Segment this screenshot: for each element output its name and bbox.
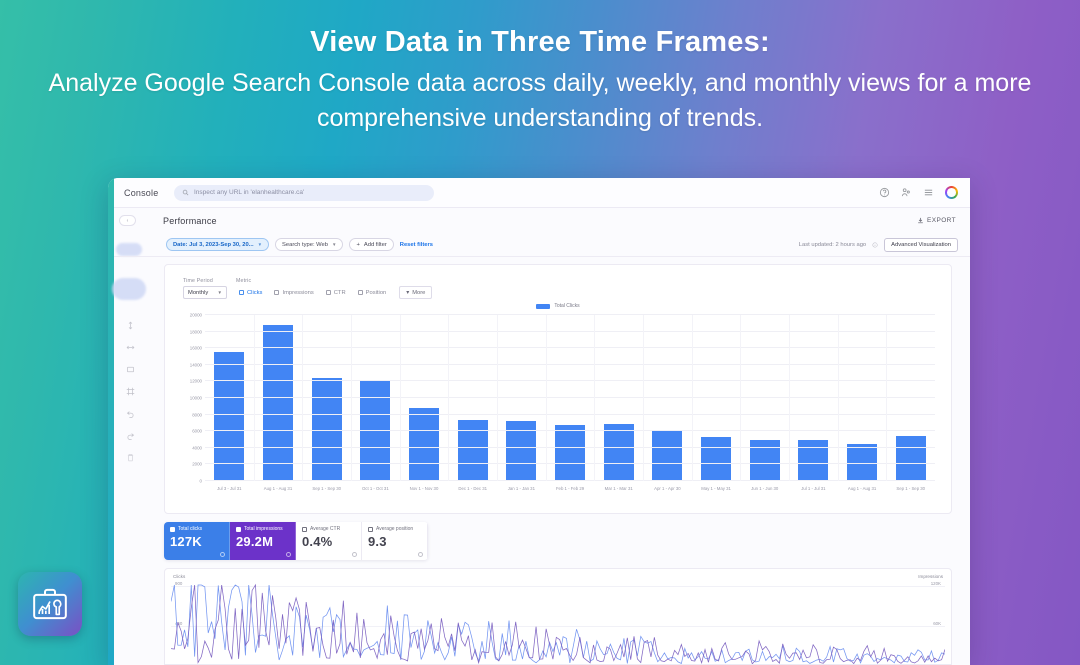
metric-card-value: 127K: [170, 534, 223, 549]
y-gridline: [205, 463, 935, 464]
x-gridline: [789, 315, 790, 481]
bar[interactable]: [896, 436, 926, 481]
console-brand[interactable]: Console: [114, 188, 170, 198]
chevron-down-icon: ▼: [258, 242, 262, 247]
bar-column[interactable]: Jun 1 - Jun 30: [740, 315, 789, 481]
export-button[interactable]: EXPORT: [917, 217, 956, 224]
metric-card[interactable]: Average position9.3: [362, 522, 428, 560]
x-axis-tick: Apr 1 - Apr 30: [654, 486, 681, 491]
bar[interactable]: [409, 408, 439, 481]
headline-subtitle: Analyze Google Search Console data acros…: [0, 66, 1080, 135]
x-axis-tick: Oct 1 - Oct 31: [362, 486, 389, 491]
metric-card-header: Total clicks: [170, 526, 223, 532]
metric-tab-clicks[interactable]: Clicks: [236, 289, 265, 297]
bar[interactable]: [847, 444, 877, 481]
bar-column[interactable]: Apr 1 - Apr 30: [643, 315, 692, 481]
metric-tab-label: CTR: [334, 290, 346, 296]
bar-column[interactable]: May 1 - May 31: [692, 315, 741, 481]
search-icon: [182, 189, 189, 196]
y-gridline: [205, 314, 935, 315]
time-period-select[interactable]: Monthly ▼: [183, 286, 227, 299]
timeseries-lines[interactable]: [171, 583, 945, 665]
checkbox-icon[interactable]: [170, 527, 175, 532]
date-filter-label: Date: Jul 3, 2023-Sep 30, 20...: [173, 242, 254, 248]
metric-summary-cards: Total clicks127KTotal impressions29.2MAv…: [164, 522, 428, 560]
bar-column[interactable]: Oct 1 - Oct 31: [351, 315, 400, 481]
metric-card-title: Total clicks: [178, 526, 202, 532]
chevron-down-icon: ▼: [218, 290, 222, 295]
advanced-visualization-button[interactable]: Advanced Visualization: [884, 238, 958, 252]
time-period-value: Monthly: [188, 290, 208, 296]
checkbox-icon: [274, 290, 279, 295]
filter-bar: Date: Jul 3, 2023-Sep 30, 20... ▼ Search…: [114, 233, 970, 257]
timeseries-line: [171, 585, 945, 663]
info-icon[interactable]: [872, 242, 878, 248]
metric-tabs: Clicks Impressions CTR Position: [236, 286, 432, 299]
x-axis-tick: May 1 - May 31: [701, 486, 731, 491]
info-icon[interactable]: [418, 552, 423, 557]
y-axis-tick: 0: [200, 479, 202, 484]
bar[interactable]: [555, 425, 585, 481]
x-axis-tick: Mar 1 - Mar 31: [605, 486, 633, 491]
metric-control: Metric Clicks Impressions CTR: [236, 278, 432, 299]
timeseries-line: [171, 585, 945, 664]
metric-card[interactable]: Total impressions29.2M: [230, 522, 296, 560]
legend-label: Total Clicks: [554, 303, 579, 309]
x-gridline: [594, 315, 595, 481]
metric-card-header: Average CTR: [302, 526, 355, 532]
chart-controls: Time Period Monthly ▼ Metric Clicks Impr…: [165, 265, 951, 299]
time-period-label: Time Period: [183, 278, 227, 284]
metric-tab-position[interactable]: Position: [355, 289, 390, 297]
bar[interactable]: [214, 352, 244, 481]
y-axis-tick: 14000: [190, 362, 202, 367]
y-axis-tick: 16000: [190, 346, 202, 351]
chevron-down-icon: ▼: [332, 242, 336, 247]
avatar[interactable]: [945, 186, 958, 199]
promo-headline: View Data in Three Time Frames: Analyze …: [0, 26, 1080, 135]
apps-icon[interactable]: [901, 187, 912, 198]
metric-tab-label: Impressions: [282, 290, 313, 296]
bar-column[interactable]: Aug 1 - Aug 31: [254, 315, 303, 481]
bar[interactable]: [458, 420, 488, 481]
vertical-resize-icon[interactable]: [126, 321, 135, 330]
checkbox-icon[interactable]: [368, 527, 373, 532]
download-icon: [917, 217, 924, 224]
bar-column[interactable]: Sep 1 - Sep 30: [886, 315, 935, 481]
metric-card-title: Average position: [376, 526, 413, 532]
page-header-row: ‹ Performance EXPORT: [114, 208, 970, 233]
x-gridline: [886, 315, 887, 481]
headline-title: View Data in Three Time Frames:: [0, 26, 1080, 59]
chevron-down-icon: ▾: [406, 290, 409, 296]
metric-more-button[interactable]: ▾ More: [399, 286, 432, 299]
x-axis-tick: Nov 1 - Nov 30: [410, 486, 439, 491]
app-logo-badge: [18, 572, 82, 636]
metric-card-title: Average CTR: [310, 526, 340, 532]
url-inspect-search[interactable]: Inspect any URL in 'elanhealthcare.ca': [174, 185, 434, 201]
y-gridline: [205, 397, 935, 398]
x-axis-tick: Feb 1 - Feb 29: [556, 486, 584, 491]
bar-column[interactable]: Feb 1 - Feb 29: [546, 315, 595, 481]
y-gridline: [205, 364, 935, 365]
x-axis-tick: Jul 3 - Jul 31: [217, 486, 241, 491]
bar-column[interactable]: Jul 3 - Jul 31: [205, 315, 254, 481]
horizontal-resize-icon[interactable]: [126, 343, 135, 352]
filter-bar-right: Last updated: 2 hours ago Advanced Visua…: [799, 238, 970, 252]
bar-column[interactable]: Nov 1 - Nov 30: [400, 315, 449, 481]
metric-tab-ctr[interactable]: CTR: [323, 289, 349, 297]
y-axis-tick: 12000: [190, 379, 202, 384]
checkbox-icon: [326, 290, 331, 295]
decorative-blob: [112, 278, 146, 300]
info-icon[interactable]: [286, 552, 291, 557]
bar-column[interactable]: Mar 1 - Mar 31: [594, 315, 643, 481]
search-console-window: Console Inspect any URL in 'elanhealthca…: [108, 178, 970, 665]
bar-column[interactable]: Jan 1 - Jan 31: [497, 315, 546, 481]
x-gridline: [546, 315, 547, 481]
x-gridline: [643, 315, 644, 481]
bar[interactable]: [798, 440, 828, 482]
x-axis-tick: Dec 1 - Dec 31: [458, 486, 487, 491]
add-filter-label: Add filter: [364, 242, 387, 248]
x-gridline: [497, 315, 498, 481]
chart-bars: Jul 3 - Jul 31Aug 1 - Aug 31Sep 1 - Sep …: [205, 315, 935, 481]
toolbox-chart-wrench-icon: [30, 584, 70, 624]
metric-card-title: Total impressions: [244, 526, 283, 532]
y-gridline: [205, 380, 935, 381]
y-gridline: [205, 347, 935, 348]
sidebar-collapse-button[interactable]: ‹: [119, 215, 136, 226]
y-gridline: [205, 331, 935, 332]
rectangle-icon[interactable]: [126, 365, 135, 374]
x-gridline: [302, 315, 303, 481]
search-type-label: Search type: Web: [282, 242, 328, 248]
info-icon[interactable]: [220, 552, 225, 557]
plus-icon: +: [356, 242, 359, 248]
menu-icon[interactable]: [923, 187, 934, 198]
x-gridline: [448, 315, 449, 481]
crop-icon[interactable]: [126, 387, 135, 396]
checkbox-icon[interactable]: [302, 527, 307, 532]
search-placeholder: Inspect any URL in 'elanhealthcare.ca': [194, 189, 304, 196]
checkbox-icon: [239, 290, 244, 295]
bar[interactable]: [263, 325, 293, 481]
timeseries-right-axis-label: Impressions: [918, 574, 943, 579]
help-icon[interactable]: [879, 187, 890, 198]
redo-icon[interactable]: [126, 431, 135, 440]
metric-label: Metric: [236, 278, 432, 284]
x-gridline: [400, 315, 401, 481]
y-axis-tick: 20000: [190, 313, 202, 318]
search-type-filter-chip[interactable]: Search type: Web ▼: [275, 238, 343, 251]
date-filter-chip[interactable]: Date: Jul 3, 2023-Sep 30, 20... ▼: [166, 238, 269, 251]
bar-column[interactable]: Dec 1 - Dec 31: [448, 315, 497, 481]
legend-swatch: [536, 304, 550, 309]
bar[interactable]: [604, 424, 634, 481]
y-axis-tick: 18000: [190, 329, 202, 334]
y-axis-tick: 4000: [192, 445, 202, 450]
y-gridline: [205, 430, 935, 431]
bar[interactable]: [652, 431, 682, 481]
y-axis-tick: 8000: [192, 412, 202, 417]
x-gridline: [692, 315, 693, 481]
x-gridline: [838, 315, 839, 481]
metric-card-value: 0.4%: [302, 534, 355, 549]
metric-tab-label: Position: [366, 290, 387, 296]
page-title: Performance: [163, 216, 217, 226]
x-axis-tick: Aug 1 - Aug 31: [264, 486, 292, 491]
bar[interactable]: [701, 437, 731, 481]
info-icon[interactable]: [352, 552, 357, 557]
x-axis-tick: Jan 1 - Jan 31: [508, 486, 535, 491]
clicks-bar-chart[interactable]: Jul 3 - Jul 31Aug 1 - Aug 31Sep 1 - Sep …: [205, 315, 935, 481]
y-gridline: [205, 414, 935, 415]
checkbox-icon: [358, 290, 363, 295]
checkbox-icon[interactable]: [236, 527, 241, 532]
add-filter-chip[interactable]: + Add filter: [349, 238, 393, 251]
console-top-bar: Console Inspect any URL in 'elanhealthca…: [114, 178, 970, 208]
time-period-control: Time Period Monthly ▼: [183, 278, 227, 299]
timeseries-left-axis-label: Clicks: [173, 574, 185, 579]
x-gridline: [254, 315, 255, 481]
y-gridline: [205, 480, 935, 481]
x-axis-tick: Jun 1 - Jun 30: [751, 486, 778, 491]
metric-card[interactable]: Total clicks127K: [164, 522, 230, 560]
metric-tab-label: Clicks: [247, 290, 262, 296]
y-gridline: [205, 447, 935, 448]
bar-column[interactable]: Jul 1 - Jul 31: [789, 315, 838, 481]
bar-column[interactable]: Sep 1 - Sep 30: [302, 315, 351, 481]
chart-legend: Total Clicks: [165, 303, 951, 309]
timeseries-card: Clicks 900 450 Impressions 120K 60K: [164, 568, 952, 665]
y-axis-tick: 10000: [190, 396, 202, 401]
x-gridline: [351, 315, 352, 481]
metric-card-header: Average position: [368, 526, 421, 532]
performance-chart-card: Time Period Monthly ▼ Metric Clicks Impr…: [164, 264, 952, 514]
metric-tab-impressions[interactable]: Impressions: [271, 289, 316, 297]
x-axis-tick: Sep 1 - Sep 30: [896, 486, 925, 491]
bar-column[interactable]: Aug 1 - Aug 31: [838, 315, 887, 481]
y-axis-tick: 6000: [192, 429, 202, 434]
edit-toolbar: [126, 321, 135, 462]
y-axis-tick: 2000: [192, 462, 202, 467]
undo-icon[interactable]: [126, 409, 135, 418]
topbar-actions: [879, 186, 970, 199]
metric-card-header: Total impressions: [236, 526, 289, 532]
last-updated-text: Last updated: 2 hours ago: [799, 242, 866, 248]
reset-filters-link[interactable]: Reset filters: [400, 242, 433, 248]
metric-card-value: 9.3: [368, 534, 421, 549]
metric-card[interactable]: Average CTR0.4%: [296, 522, 362, 560]
trash-icon[interactable]: [126, 453, 135, 462]
x-axis-tick: Jul 1 - Jul 31: [801, 486, 825, 491]
x-axis-tick: Sep 1 - Sep 30: [312, 486, 341, 491]
metric-card-value: 29.2M: [236, 534, 289, 549]
x-gridline: [740, 315, 741, 481]
x-axis-tick: Aug 1 - Aug 31: [848, 486, 876, 491]
metric-more-label: More: [412, 290, 425, 296]
export-label: EXPORT: [927, 217, 956, 224]
